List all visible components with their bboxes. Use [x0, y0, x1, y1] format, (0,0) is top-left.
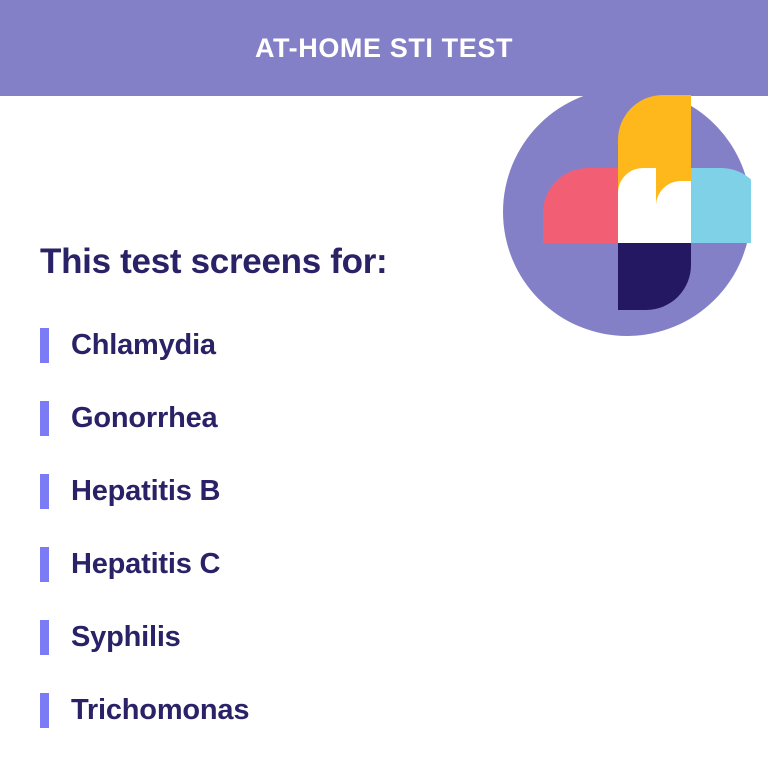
bullet-bar-icon: [40, 693, 49, 728]
list-item: Hepatitis C: [40, 528, 600, 601]
page-title: AT-HOME STI TEST: [0, 0, 768, 96]
list-item: Chlamydia: [40, 309, 600, 382]
condition-label: Trichomonas: [71, 694, 249, 727]
list-item: Trichomonas: [40, 674, 600, 747]
at-home-sti-test-card: AT-HOME STI TEST This test screens for: …: [0, 0, 768, 768]
main-content: This test screens for: Chlamydia Gonorrh…: [0, 96, 768, 768]
bullet-bar-icon: [40, 474, 49, 509]
condition-label: Hepatitis B: [71, 475, 220, 508]
condition-list: Chlamydia Gonorrhea Hepatitis B Hepatiti…: [40, 309, 600, 747]
bullet-bar-icon: [40, 620, 49, 655]
list-item: Gonorrhea: [40, 382, 600, 455]
screens-for-heading: This test screens for:: [40, 242, 387, 282]
bullet-bar-icon: [40, 328, 49, 363]
condition-label: Gonorrhea: [71, 402, 217, 435]
condition-label: Hepatitis C: [71, 548, 220, 581]
condition-label: Syphilis: [71, 621, 181, 654]
bullet-bar-icon: [40, 547, 49, 582]
list-item: Syphilis: [40, 601, 600, 674]
bullet-bar-icon: [40, 401, 49, 436]
condition-label: Chlamydia: [71, 329, 216, 362]
list-item: Hepatitis B: [40, 455, 600, 528]
